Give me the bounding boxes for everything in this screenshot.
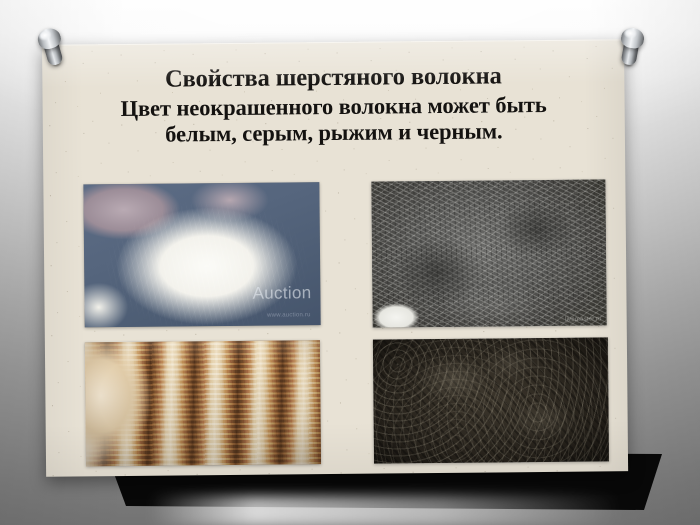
photo-black-wool: [373, 337, 609, 463]
slide-stage: Свойства шерстяного волокна Цвет неокраш…: [0, 0, 700, 525]
ginger-shading: [85, 340, 321, 466]
ginger-wool-image: [85, 340, 321, 466]
grey-wool-image: [371, 179, 606, 327]
subtitle-line-1: Цвет неокрашенного волокна может быть: [65, 92, 603, 122]
white-wool-image: [83, 182, 320, 327]
photo-ginger-wool: [85, 340, 321, 466]
grey-wool-light-nub: [371, 298, 426, 328]
photo-grid: Auction www.auction.ru livemaster.ru: [83, 179, 608, 466]
title-block: Свойства шерстяного волокна Цвет неокраш…: [64, 61, 603, 147]
black-wool-highlights: [373, 337, 609, 463]
floor-highlight: [150, 496, 620, 525]
subtitle-line-2: белым, серым, рыжим и черным.: [65, 117, 603, 147]
auction-watermark-url: www.auction.ru: [267, 312, 311, 318]
black-wool-image: [373, 337, 609, 463]
auction-watermark: Auction: [253, 283, 312, 304]
white-fiber-strands: [83, 182, 320, 327]
photo-white-wool: Auction www.auction.ru: [83, 182, 320, 327]
pinned-paper-card: Свойства шерстяного волокна Цвет неокраш…: [42, 39, 628, 477]
page-title: Свойства шерстяного волокна: [64, 61, 602, 94]
livemaster-watermark: livemaster.ru: [565, 316, 602, 322]
photo-grey-wool: livemaster.ru: [371, 179, 606, 327]
